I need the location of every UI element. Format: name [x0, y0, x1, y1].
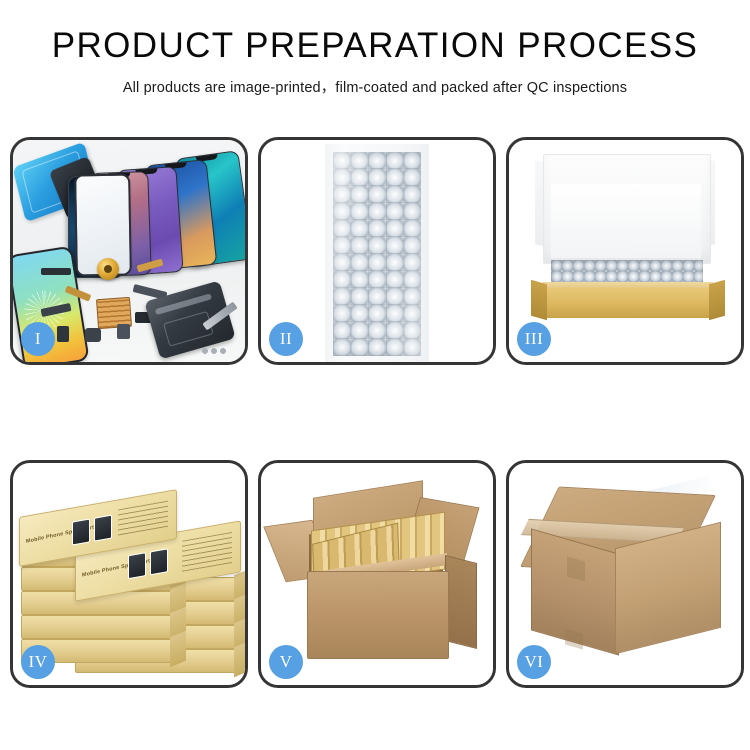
bubble-wrap-pouch — [325, 144, 429, 362]
page-title: PRODUCT PREPARATION PROCESS — [0, 28, 750, 65]
page-subtitle: All products are image-printed，film-coat… — [0, 76, 750, 97]
step-panel-3: III — [506, 137, 744, 365]
box-lid-spec-lines-1 — [118, 500, 168, 539]
component-bar-icon — [41, 268, 71, 275]
screws-icon — [201, 346, 227, 356]
carton-front-face — [307, 571, 449, 659]
box-front-wall-icon — [539, 288, 717, 318]
step-badge-5: V — [269, 645, 303, 679]
step-badge-6: VI — [517, 645, 551, 679]
step-badge-3: III — [517, 322, 551, 356]
step-badge-2: II — [269, 322, 303, 356]
page-header: PRODUCT PREPARATION PROCESS All products… — [0, 0, 750, 97]
box-lid-thumbnail-2-icon — [94, 515, 112, 542]
box-lid-spec-lines-2 — [182, 532, 232, 572]
retail-box-stack: Mobile Phone Spare Parts Mobile Phone Sp… — [19, 481, 245, 681]
step-panel-1: I — [10, 137, 248, 365]
step-badge-4: IV — [21, 645, 55, 679]
bubble-wrap-gloss — [333, 152, 421, 356]
small-component-2-icon — [85, 328, 101, 342]
stacked-box-l4 — [21, 615, 173, 639]
process-steps-grid: I II III — [10, 137, 745, 688]
box-lid-thumbnail-4-icon — [150, 548, 168, 575]
box-lid-thumbnail-1-icon — [72, 519, 90, 546]
foam-liner-icon — [551, 184, 701, 258]
step-badge-1: I — [21, 322, 55, 356]
small-component-3-icon — [117, 324, 130, 339]
gold-speaker-coil-icon — [97, 258, 119, 280]
step-panel-5: V — [258, 460, 496, 688]
step-panel-2: II — [258, 137, 496, 365]
carton-right-face — [445, 555, 477, 649]
step-panel-4: Mobile Phone Spare Parts Mobile Phone Sp… — [10, 460, 248, 688]
step-panel-6: VI — [506, 460, 744, 688]
box-lid-thumbnail-3-icon — [128, 552, 146, 579]
small-component-1-icon — [57, 326, 69, 342]
